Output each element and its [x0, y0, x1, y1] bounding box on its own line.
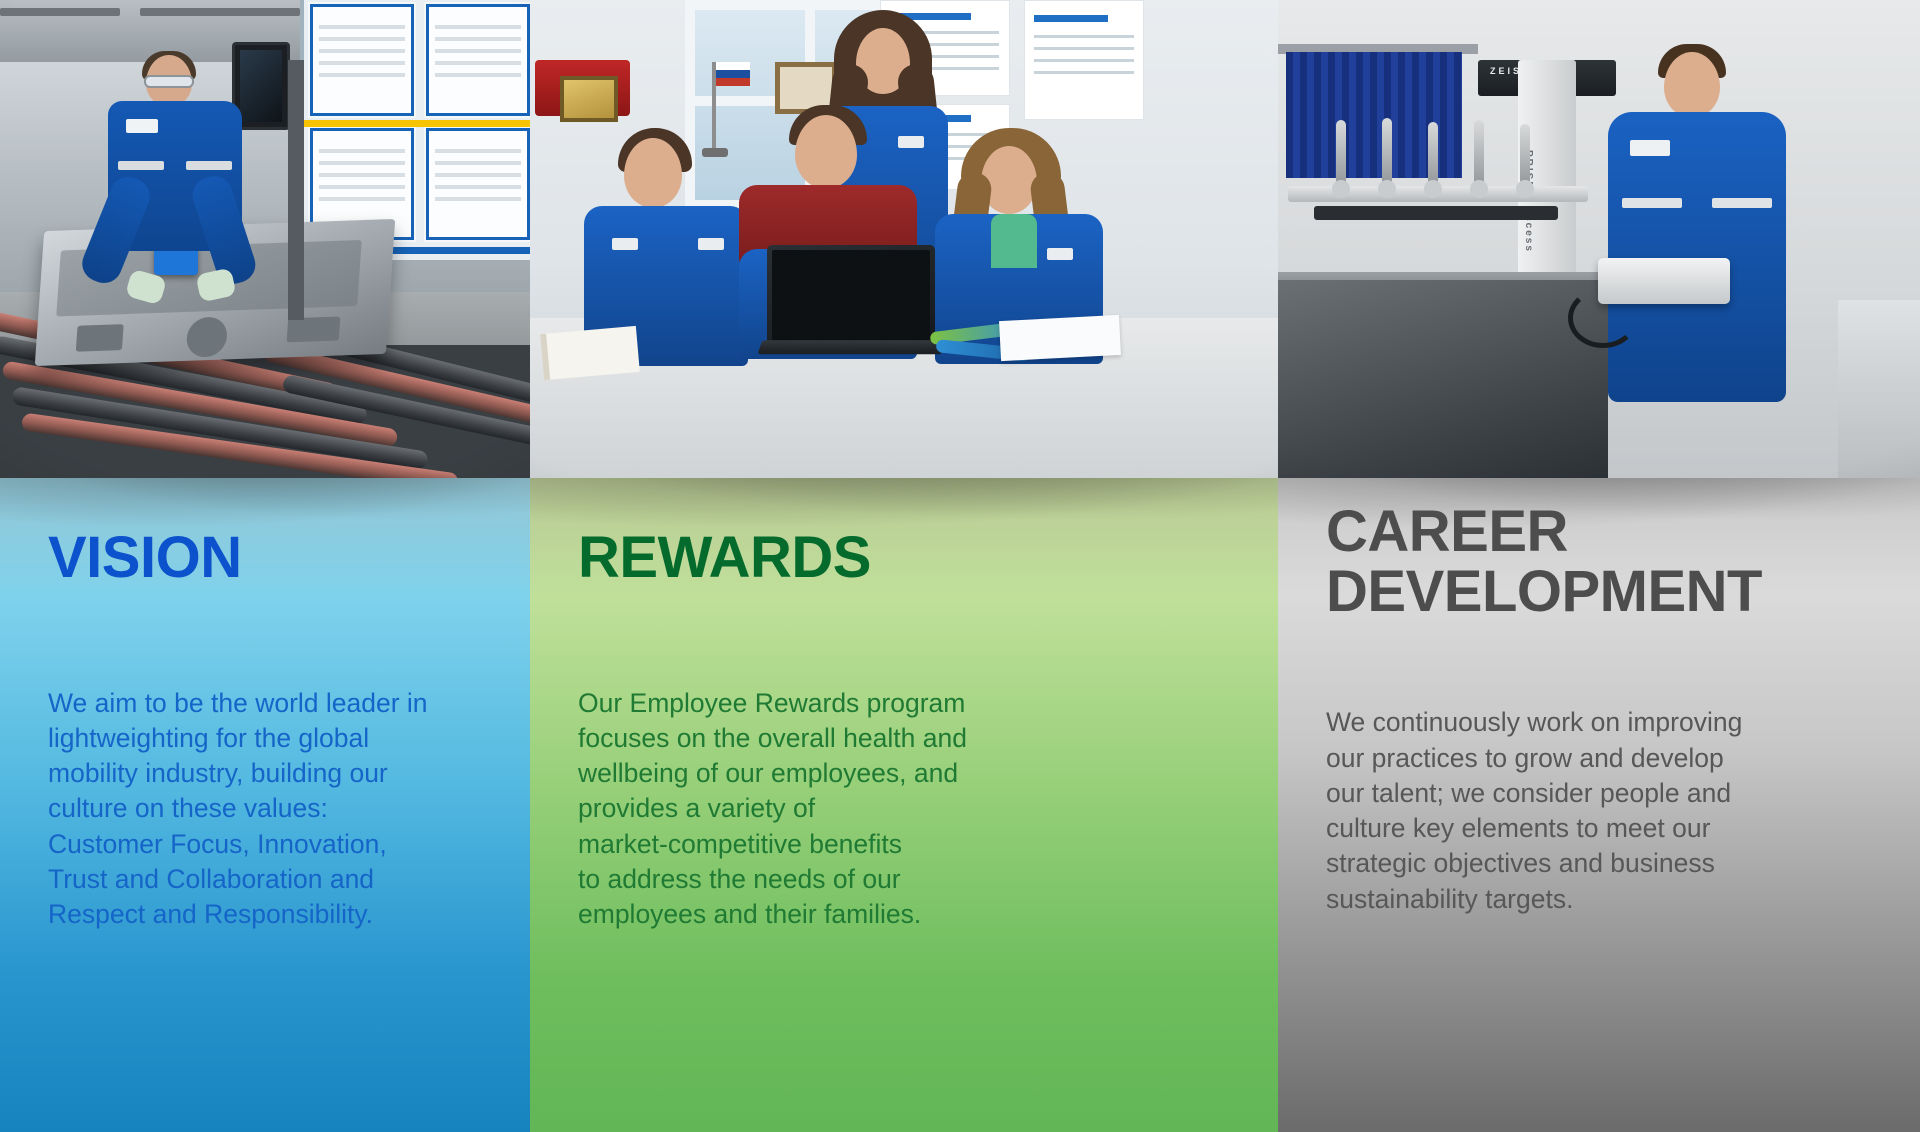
photo-vision-scene [0, 0, 530, 478]
column-vision: VISION We aim to be the world leader in … [0, 0, 530, 1132]
vignette [530, 0, 1278, 478]
column-career-development: ZEISS PRISMO Access [1278, 0, 1920, 1132]
three-column-values-board: VISION We aim to be the world leader in … [0, 0, 1920, 1132]
column-rewards: REWARDS Our Employee Rewards program foc… [530, 0, 1278, 1132]
body-rewards: Our Employee Rewards program focuses on … [578, 686, 1230, 933]
body-career: We continuously work on improving our pr… [1326, 705, 1872, 916]
photo-rewards-scene [530, 0, 1278, 478]
photo-career: ZEISS PRISMO Access [1278, 0, 1920, 478]
panel-career: CAREER DEVELOPMENT We continuously work … [1278, 478, 1920, 1132]
heading-career: CAREER DEVELOPMENT [1326, 502, 1872, 621]
photo-rewards [530, 0, 1278, 478]
panel-vision: VISION We aim to be the world leader in … [0, 478, 530, 1132]
heading-rewards: REWARDS [578, 528, 1230, 588]
body-vision: We aim to be the world leader in lightwe… [48, 686, 482, 933]
photo-vision [0, 0, 530, 478]
panel-rewards: REWARDS Our Employee Rewards program foc… [530, 478, 1278, 1132]
vignette [0, 0, 530, 478]
vignette [1278, 0, 1920, 478]
heading-vision: VISION [48, 528, 482, 588]
photo-career-scene: ZEISS PRISMO Access [1278, 0, 1920, 478]
